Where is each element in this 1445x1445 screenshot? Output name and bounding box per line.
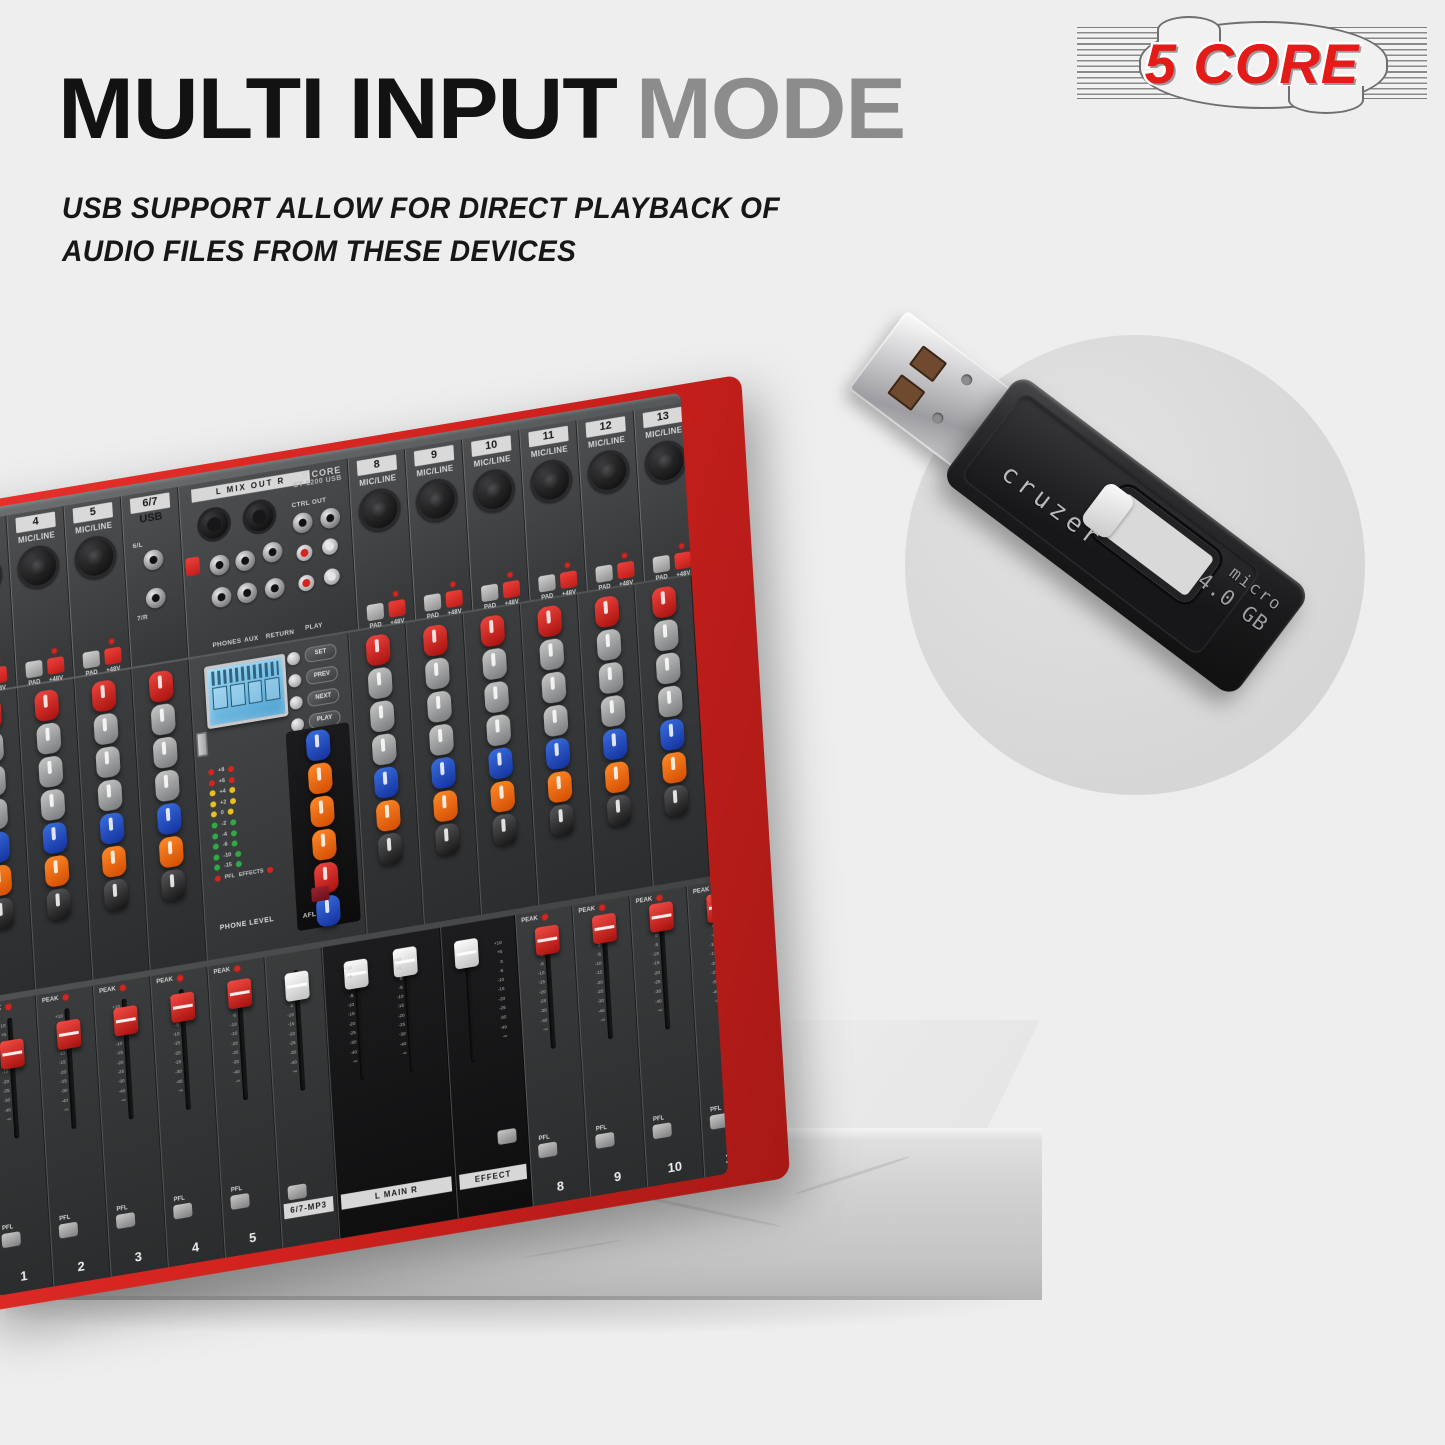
xlr-combo-jack[interactable] [415, 476, 459, 525]
usb-connector-hole [930, 410, 945, 425]
fader-channel-number: 9 [590, 1164, 646, 1188]
main-strip-label: L MAIN R [341, 1176, 452, 1210]
subtitle: USB SUPPORT ALLOW FOR DIRECT PLAYBACK OF… [62, 188, 780, 273]
pan-knob[interactable] [103, 878, 129, 912]
phones-label: PHONES [212, 638, 241, 650]
phantom-power-button[interactable]: +48V [502, 580, 520, 599]
pan-knob[interactable] [378, 832, 404, 866]
play-label: PLAY [305, 622, 323, 632]
input-channel-5[interactable]: 5 MIC/LINE PAD +48V [63, 496, 131, 676]
peak-led [5, 1003, 11, 1010]
pfl-label: PFL [2, 1224, 14, 1232]
fader-handle[interactable] [649, 901, 674, 933]
fader-channel-number: 10 [647, 1155, 703, 1179]
input-channel-12[interactable]: 12 MIC/LINE PAD +48V [576, 411, 644, 591]
low-eq-knob[interactable] [486, 713, 512, 747]
gain-knob[interactable] [365, 633, 391, 667]
pfl-label: PFL [596, 1125, 608, 1133]
fader-handle[interactable] [113, 1005, 138, 1037]
input-channel-10[interactable]: 10 MIC/LINE PAD +48V [462, 430, 530, 610]
phantom-led [507, 572, 512, 578]
play-rca-white-2[interactable] [323, 567, 340, 586]
peak-label: PEAK [693, 887, 710, 896]
lcd-icon-cell [247, 680, 263, 705]
phantom-led [565, 562, 570, 568]
pfl-label: PFL [116, 1205, 128, 1213]
gain-knob[interactable] [651, 585, 677, 619]
pfl-button[interactable] [595, 1132, 615, 1149]
input-channel-4[interactable]: 4 MIC/LINE PAD +48V [6, 506, 74, 686]
pad-button[interactable]: PAD [652, 555, 670, 574]
pad-button[interactable]: PAD [538, 574, 556, 593]
pfl-button[interactable] [287, 1183, 307, 1200]
peak-led [63, 994, 69, 1001]
peak-label: PEAK [578, 906, 595, 915]
usb-contact-pad [887, 374, 925, 411]
fader-channel-number: 8 [532, 1174, 588, 1198]
peak-label: PEAK [636, 896, 653, 905]
pad-button[interactable]: PAD [82, 650, 100, 669]
effect-send-knob[interactable] [376, 799, 402, 833]
low-eq-knob[interactable] [97, 778, 123, 812]
xlr-combo-jack[interactable] [586, 447, 630, 496]
lcd-display [204, 654, 289, 730]
pan-knob[interactable] [46, 887, 72, 921]
ctrl-out-jack-right[interactable] [320, 506, 341, 529]
mid-eq-knob[interactable] [95, 745, 121, 779]
low-eq-knob[interactable] [0, 797, 8, 831]
peak-led [177, 975, 183, 982]
display-button-pin[interactable] [287, 651, 301, 666]
aux-send-knob[interactable] [0, 831, 10, 865]
high-eq-knob[interactable] [539, 637, 565, 671]
pfl-label: PFL [174, 1195, 186, 1203]
pan-knob[interactable] [435, 822, 461, 856]
ctrl-out-jack-left[interactable] [292, 511, 313, 534]
effect-strip-label: EFFECT [459, 1164, 527, 1190]
phantom-led [393, 591, 398, 597]
gain-knob[interactable] [91, 679, 117, 713]
aux-jack-2[interactable] [237, 581, 258, 604]
fader-channel-number: 2 [53, 1254, 109, 1278]
mid-eq-knob[interactable] [152, 736, 178, 770]
mid-eq-knob[interactable] [541, 671, 567, 705]
fader-channel-number: 3 [110, 1244, 166, 1268]
line-input-jack-6l[interactable] [143, 548, 164, 571]
play-rca-red-2[interactable] [298, 574, 315, 593]
play-rca-white[interactable] [322, 537, 339, 556]
led-level-meter: +8 +6 +4 +2 0 -2 -4 -6 -10 -15 PFLEFFECT… [208, 758, 290, 911]
master-effect-knob-3[interactable] [312, 828, 338, 862]
phantom-power-button[interactable]: +48V [104, 647, 122, 666]
phone-level-label: PHONE LEVEL [220, 916, 275, 932]
phantom-led [52, 648, 57, 654]
gain-knob[interactable] [480, 614, 506, 648]
gain-knob[interactable] [594, 595, 620, 629]
peak-led [542, 914, 548, 921]
peak-label: PEAK [156, 976, 173, 985]
low-eq-knob[interactable] [600, 694, 626, 728]
return-jack-left[interactable] [262, 540, 283, 563]
pan-knob[interactable] [549, 803, 575, 837]
fader-handle[interactable] [284, 970, 309, 1002]
aux-send-knob[interactable] [660, 718, 686, 752]
high-eq-knob[interactable] [36, 722, 62, 756]
jack-label-6l: 6/L [133, 541, 144, 550]
aux-send-knob[interactable] [42, 821, 68, 855]
pad-button[interactable]: PAD [595, 564, 613, 583]
gain-knob[interactable] [537, 604, 563, 638]
effect-send-knob[interactable] [604, 760, 630, 794]
main-mix-section: +10+50-5-10-15-20-25-30-40-∞ +10+50-5-10… [322, 928, 458, 1239]
peak-led [120, 984, 126, 991]
phantom-master-button[interactable] [185, 556, 200, 576]
fader-channel-number: 11 [704, 1145, 728, 1169]
subtitle-line-2: AUDIO FILES FROM THESE DEVICES [62, 231, 780, 274]
xlr-combo-jack[interactable] [358, 485, 402, 534]
phones-jack[interactable] [209, 553, 230, 576]
low-eq-knob[interactable] [40, 788, 66, 822]
jack-label-7r: 7/R [137, 614, 148, 623]
input-channel-6-7-usb[interactable]: 6/7 USB 6/L 7/R [121, 487, 189, 667]
usb-contact-pad [909, 345, 947, 382]
phantom-led [450, 581, 455, 587]
peak-led [234, 965, 240, 972]
pad-button[interactable]: PAD [480, 584, 498, 603]
effect-send-knob[interactable] [433, 789, 459, 823]
aux-send-jack[interactable] [235, 549, 256, 572]
effect-send-knob[interactable] [0, 864, 12, 898]
high-eq-knob[interactable] [93, 712, 119, 746]
pan-knob[interactable] [664, 784, 690, 818]
phones-jack-2[interactable] [211, 586, 232, 609]
mid-eq-knob[interactable] [38, 755, 64, 789]
master-effect-knob-2[interactable] [310, 794, 336, 828]
pfl-button[interactable] [59, 1222, 79, 1239]
aux-label: AUX [244, 635, 259, 644]
pan-knob[interactable] [492, 813, 518, 847]
xlr-output-right[interactable] [242, 497, 278, 537]
master-aux-knob[interactable] [305, 728, 331, 762]
mid-eq-knob[interactable] [427, 690, 453, 724]
next-button[interactable]: NEXT [307, 687, 339, 707]
peak-led [599, 904, 605, 911]
input-channel-9[interactable]: 9 MIC/LINE PAD +48V [405, 439, 473, 619]
pfl-label: PFL [538, 1134, 550, 1142]
logo-text: 5 CORE [1077, 27, 1427, 99]
peak-label: PEAK [99, 986, 116, 995]
pfl-label: PFL [231, 1186, 243, 1194]
headline-primary: MULTI INPUT [58, 61, 617, 157]
phantom-power-button[interactable]: +48V [445, 589, 463, 608]
xlr-combo-jack[interactable] [644, 438, 688, 487]
xlr-output-left[interactable] [196, 505, 232, 545]
fader-handle[interactable] [227, 978, 252, 1010]
phantom-power-button[interactable]: +48V [0, 666, 7, 685]
lcd-icon-cell [212, 686, 228, 711]
effect-send-knob[interactable] [662, 751, 688, 785]
high-eq-knob[interactable] [425, 657, 451, 691]
audio-mixer-product: 3 MIC/LINE PAD +48V 4 MIC/LINE PAD +48V [0, 374, 790, 1312]
headline-secondary: MODE [636, 61, 905, 157]
prev-button[interactable]: PREV [306, 665, 338, 685]
pedestal-shadow [6, 1296, 1026, 1336]
high-eq-knob[interactable] [150, 702, 176, 736]
phantom-led [622, 553, 627, 559]
pad-button[interactable]: PAD [366, 603, 384, 622]
peak-label: PEAK [0, 1005, 1, 1014]
pfl-label: PFL [710, 1106, 722, 1114]
pfl-button[interactable] [538, 1141, 558, 1158]
xlr-combo-jack[interactable] [472, 466, 516, 515]
line-input-jack-7r[interactable] [145, 586, 166, 609]
subtitle-line-1: USB SUPPORT ALLOW FOR DIRECT PLAYBACK OF [62, 188, 780, 231]
pfl-button[interactable] [230, 1193, 250, 1210]
pan-knob[interactable] [606, 793, 632, 827]
master-connector-block: L MIX OUT R 5 CORE CT-1200 USB PHONES [178, 458, 358, 657]
peak-led [656, 895, 662, 902]
high-eq-knob[interactable] [0, 731, 4, 765]
aux-send-knob[interactable] [431, 756, 457, 790]
lcd-icon-cell [265, 677, 281, 702]
play-rca-red[interactable] [296, 544, 313, 563]
phantom-power-button[interactable]: +48V [559, 570, 577, 589]
high-eq-knob[interactable] [367, 666, 393, 700]
high-eq-knob[interactable] [596, 628, 622, 662]
ctrl-out-label: CTRL OUT [291, 497, 326, 510]
display-button-pin[interactable] [288, 673, 302, 688]
channel-input-label: MIC/LINE [0, 538, 7, 556]
mid-eq-knob[interactable] [369, 699, 395, 733]
set-button[interactable]: SET [304, 643, 336, 663]
return-jack-right[interactable] [264, 577, 285, 600]
low-eq-knob[interactable] [155, 769, 181, 803]
fader-handle[interactable] [170, 991, 195, 1023]
master-display-section: SET PREV NEXT PLAY +8 +6 +4 +2 0 -2 -4 [188, 633, 366, 961]
input-channel-8[interactable]: 8 MIC/LINE PAD +48V [348, 449, 416, 629]
fader-handle[interactable] [592, 913, 617, 945]
aux-send-knob[interactable] [99, 811, 125, 845]
gain-knob[interactable] [34, 688, 60, 722]
pfl-button[interactable] [1, 1231, 21, 1248]
aux-send-knob[interactable] [602, 727, 628, 761]
low-eq-knob[interactable] [429, 723, 455, 757]
xlr-combo-jack[interactable] [16, 542, 60, 591]
display-button-pin[interactable] [289, 695, 303, 710]
gain-knob[interactable] [423, 623, 449, 657]
mid-eq-knob[interactable] [484, 680, 510, 714]
phantom-led [679, 543, 684, 549]
channel-number: 6/7 USB [130, 492, 170, 514]
phantom-led [109, 639, 114, 645]
page-title: MULTI INPUTMODE [58, 66, 905, 152]
pfl-button[interactable] [116, 1212, 136, 1229]
fader-handle[interactable] [535, 924, 560, 956]
high-eq-knob[interactable] [482, 647, 508, 681]
effect-send-knob[interactable] [547, 770, 573, 804]
return-label: RETURN [266, 629, 295, 641]
fader-handle[interactable] [56, 1018, 81, 1050]
low-eq-knob[interactable] [372, 732, 398, 766]
low-eq-knob[interactable] [543, 704, 569, 738]
gain-knob[interactable] [0, 698, 2, 732]
effect-fader-handle[interactable] [454, 938, 479, 970]
aux-send-knob[interactable] [374, 766, 400, 800]
promo-banner: MULTI INPUTMODE USB SUPPORT ALLOW FOR DI… [0, 0, 1445, 1445]
input-channel-11[interactable]: 11 MIC/LINE PAD +48V [519, 420, 587, 600]
aux-send-knob[interactable] [545, 737, 571, 771]
lcd-icon-cell [230, 683, 246, 708]
effect-send-knob[interactable] [490, 779, 516, 813]
pfl-button[interactable] [652, 1122, 672, 1139]
mixer-control-panel: 3 MIC/LINE PAD +48V 4 MIC/LINE PAD +48V [0, 393, 728, 1296]
xlr-combo-jack[interactable] [0, 552, 3, 601]
mid-eq-knob[interactable] [656, 651, 682, 685]
pfl-label: PFL [59, 1215, 71, 1223]
effect-send-knob[interactable] [101, 845, 127, 879]
usb-connector-hole [959, 372, 974, 387]
pan-knob[interactable] [161, 868, 187, 902]
pfl-button[interactable] [173, 1202, 193, 1219]
fader-channel-number: 4 [167, 1235, 223, 1259]
usb-port[interactable] [196, 731, 208, 757]
effect-send-knob[interactable] [159, 835, 185, 869]
xlr-combo-jack[interactable] [74, 533, 118, 582]
usb-drive-photo: cruzer micro 4.0 GB [905, 335, 1415, 845]
peak-label: PEAK [42, 996, 59, 1005]
phantom-power-button[interactable]: +48V [674, 551, 692, 570]
xlr-combo-jack[interactable] [529, 457, 573, 506]
master-knob-block: AFL [286, 722, 361, 931]
master-effect-knob-1[interactable] [308, 761, 334, 795]
aux-send-knob[interactable] [488, 746, 514, 780]
fader-channel-number: 5 [225, 1225, 281, 1249]
pfl-label: PFL [653, 1115, 665, 1123]
brand-logo: 5 CORE 5 CORE [1077, 27, 1427, 99]
fader-channel-number: 1 [0, 1263, 52, 1287]
afl-button[interactable] [311, 885, 330, 902]
low-eq-knob[interactable] [658, 685, 684, 719]
peak-label: PEAK [521, 915, 538, 924]
peak-label: PEAK [213, 967, 230, 976]
phantom-power-button[interactable]: +48V [617, 561, 635, 580]
afl-label: AFL [303, 911, 317, 920]
phantom-power-button[interactable]: +48V [388, 599, 406, 618]
pad-button[interactable]: PAD [25, 660, 43, 679]
pfl-button[interactable] [497, 1128, 517, 1145]
aux-send-knob[interactable] [157, 802, 183, 836]
model-badge: 5 CORE CT-1200 USB [293, 465, 342, 490]
fader-handle[interactable] [0, 1038, 25, 1070]
pad-button[interactable]: PAD [423, 593, 441, 612]
effect-fader-scale: +10+50-5-10-15-20-25-30-40-∞ [482, 938, 508, 1044]
mid-eq-knob[interactable] [0, 764, 6, 798]
effect-send-knob[interactable] [44, 854, 70, 888]
phantom-power-button[interactable]: +48V [46, 656, 64, 675]
pan-knob[interactable] [0, 897, 15, 931]
mid-eq-knob[interactable] [598, 661, 624, 695]
gain-knob[interactable] [148, 669, 174, 703]
high-eq-knob[interactable] [653, 618, 679, 652]
